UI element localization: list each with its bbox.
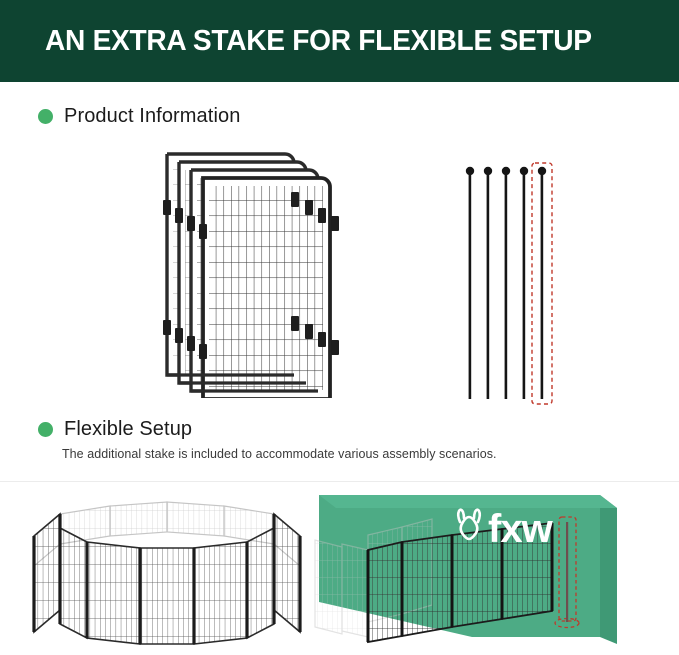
stake-3 xyxy=(502,167,510,399)
stake-4 xyxy=(520,167,528,399)
figure-octagonal-pen xyxy=(22,492,312,652)
octagon-pen-svg xyxy=(22,492,312,652)
section-subtitle-flexible-setup: The additional stake is included to acco… xyxy=(62,447,497,461)
stake-2 xyxy=(484,167,492,399)
section-heading-product-information: Product Information xyxy=(38,105,240,128)
section-divider xyxy=(0,481,679,482)
stakes-svg xyxy=(462,160,572,408)
wall-setup-svg: fxw xyxy=(312,492,672,652)
figure-wall-fence-setup: fxw xyxy=(312,492,672,652)
stake-5-highlighted xyxy=(538,167,546,399)
stacked-panels-svg xyxy=(155,138,385,398)
figure-ground-stakes xyxy=(462,160,572,408)
stake-1 xyxy=(466,167,474,399)
section-title-product-information: Product Information xyxy=(64,105,240,128)
section-heading-flexible-setup: Flexible Setup xyxy=(38,418,192,441)
fxw-logo-text: fxw xyxy=(488,507,554,551)
header-banner: AN EXTRA STAKE FOR FLEXIBLE SETUP xyxy=(0,0,679,82)
section-title-flexible-setup: Flexible Setup xyxy=(64,418,192,441)
bullet-dot-icon xyxy=(38,109,53,124)
figure-stacked-fence-panels xyxy=(155,138,385,398)
bullet-dot-icon xyxy=(38,422,53,437)
page-title: AN EXTRA STAKE FOR FLEXIBLE SETUP xyxy=(45,25,592,58)
